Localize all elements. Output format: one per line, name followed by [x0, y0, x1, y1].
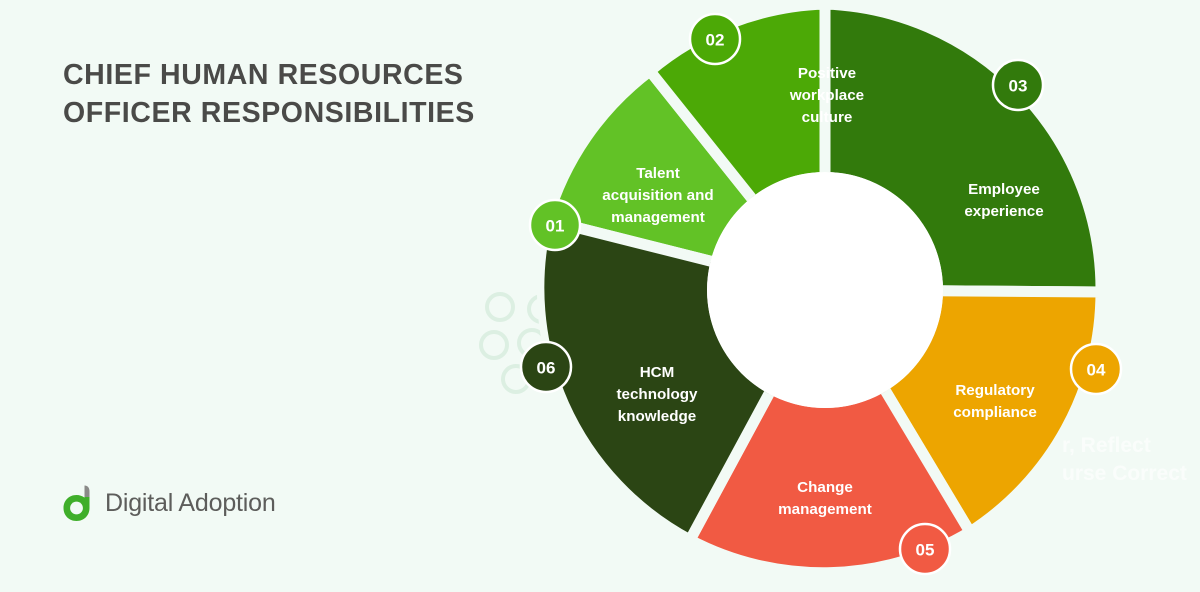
- responsibilities-donut-chart: Talent acquisition and management Positi…: [500, 0, 1150, 592]
- segment-06-badge[interactable]: 06: [521, 342, 571, 392]
- segment-03-badge[interactable]: 03: [993, 60, 1043, 110]
- page-title: CHIEF HUMAN RESOURCES OFFICER RESPONSIBI…: [63, 57, 533, 132]
- segment-06-label-line-1: HCM: [640, 364, 675, 381]
- segment-04-label-line-1: Regulatory: [955, 382, 1035, 399]
- segment-03-badge-number: 03: [1009, 77, 1028, 96]
- segment-06-label-line-2: technology: [616, 386, 698, 403]
- page-title-line-2: OFFICER RESPONSIBILITIES: [63, 97, 475, 129]
- segment-03-label-line-2: experience: [964, 203, 1043, 220]
- segment-04-label-line-2: compliance: [953, 404, 1037, 421]
- segment-06-badge-number: 06: [537, 359, 556, 378]
- segment-03-label-line-1: Employee: [968, 181, 1040, 198]
- segment-01-label-line-2: acquisition and: [602, 187, 713, 204]
- segment-01-label-line-3: management: [611, 209, 705, 226]
- digital-adoption-logo-icon: [62, 484, 96, 522]
- segment-01-badge[interactable]: 01: [530, 200, 580, 250]
- segment-02-badge-number: 02: [706, 31, 725, 50]
- page-title-line-1: CHIEF HUMAN RESOURCES: [63, 59, 464, 91]
- segment-04-badge[interactable]: 04: [1071, 344, 1121, 394]
- segment-05-label-line-2: management: [778, 501, 872, 518]
- segment-02-badge[interactable]: 02: [690, 14, 740, 64]
- donut-center-hole: [707, 172, 943, 408]
- brand-logo[interactable]: Digital Adoption: [62, 484, 276, 522]
- segment-01-badge-number: 01: [546, 217, 565, 236]
- segment-05-badge-number: 05: [916, 541, 935, 560]
- segment-05-badge[interactable]: 05: [900, 524, 950, 574]
- infographic-canvas: CHIEF HUMAN RESOURCES OFFICER RESPONSIBI…: [0, 0, 1200, 583]
- segment-06-label-line-3: knowledge: [618, 408, 696, 425]
- segment-01-label-line-1: Talent: [636, 165, 680, 182]
- segment-05-label-line-1: Change: [797, 479, 853, 496]
- segment-02-label-line-3: culture: [802, 109, 853, 126]
- segment-02-label-line-1: Positive: [798, 65, 856, 82]
- segment-02-label-line-2: workplace: [789, 87, 864, 104]
- brand-logo-text: Digital Adoption: [105, 491, 276, 516]
- segment-04-badge-number: 04: [1087, 361, 1106, 380]
